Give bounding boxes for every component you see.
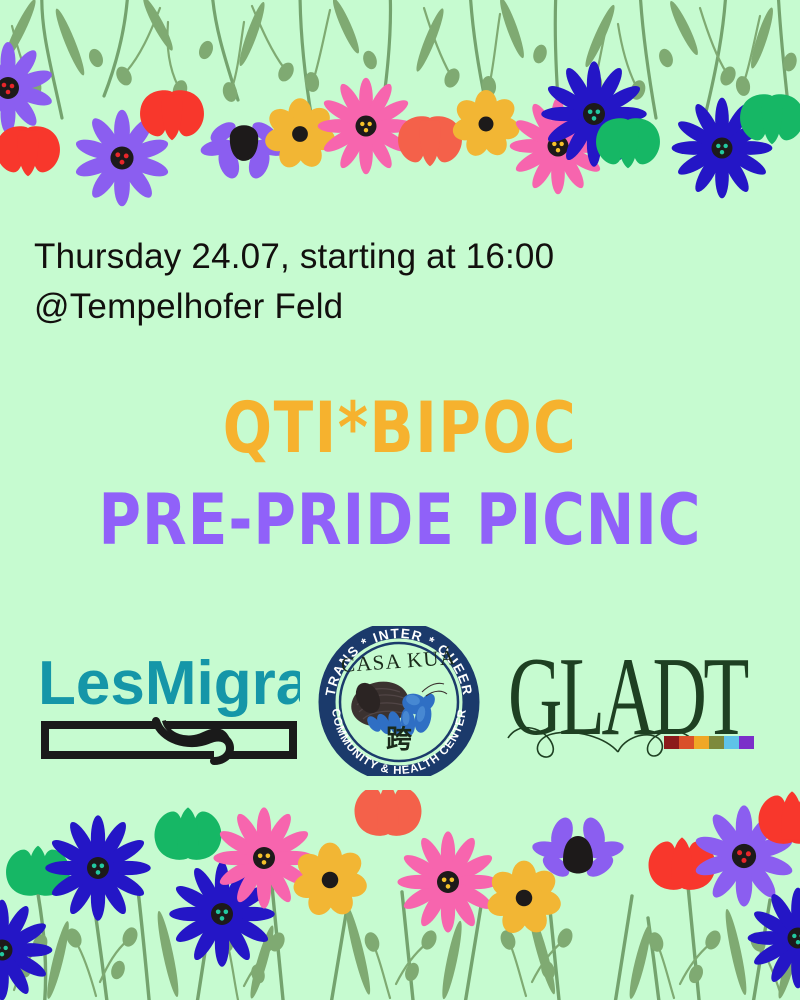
lesmigras-logo: LesMigraS <box>38 626 300 766</box>
headline-block: QTI*BIPOC PRE-PRIDE PICNIC <box>0 392 800 542</box>
gladt-rainbow-bar <box>664 736 754 749</box>
lesmigras-wordmark: LesMigraS <box>38 649 300 718</box>
event-date-line: Thursday 24.07, starting at 16:00 <box>34 232 734 282</box>
partner-logo-row: LesMigraS TRANS * INTER * QUEER COMM <box>0 626 800 786</box>
event-poster: Thursday 24.07, starting at 16:00 @Tempe… <box>0 0 800 1000</box>
casakua-glyph: 跨 <box>386 725 413 755</box>
headline-primary: QTI*BIPOC <box>0 392 800 463</box>
event-location-line: @Tempelhofer Feld <box>34 282 734 332</box>
headline-secondary: PRE-PRIDE PICNIC <box>0 484 800 555</box>
casakua-logo: TRANS * INTER * QUEER COMMUNITY & HEALTH… <box>316 626 482 776</box>
event-details: Thursday 24.07, starting at 16:00 @Tempe… <box>34 232 734 331</box>
poster-content: Thursday 24.07, starting at 16:00 @Tempe… <box>0 0 800 1000</box>
gladt-logo: GLADT <box>506 626 758 766</box>
